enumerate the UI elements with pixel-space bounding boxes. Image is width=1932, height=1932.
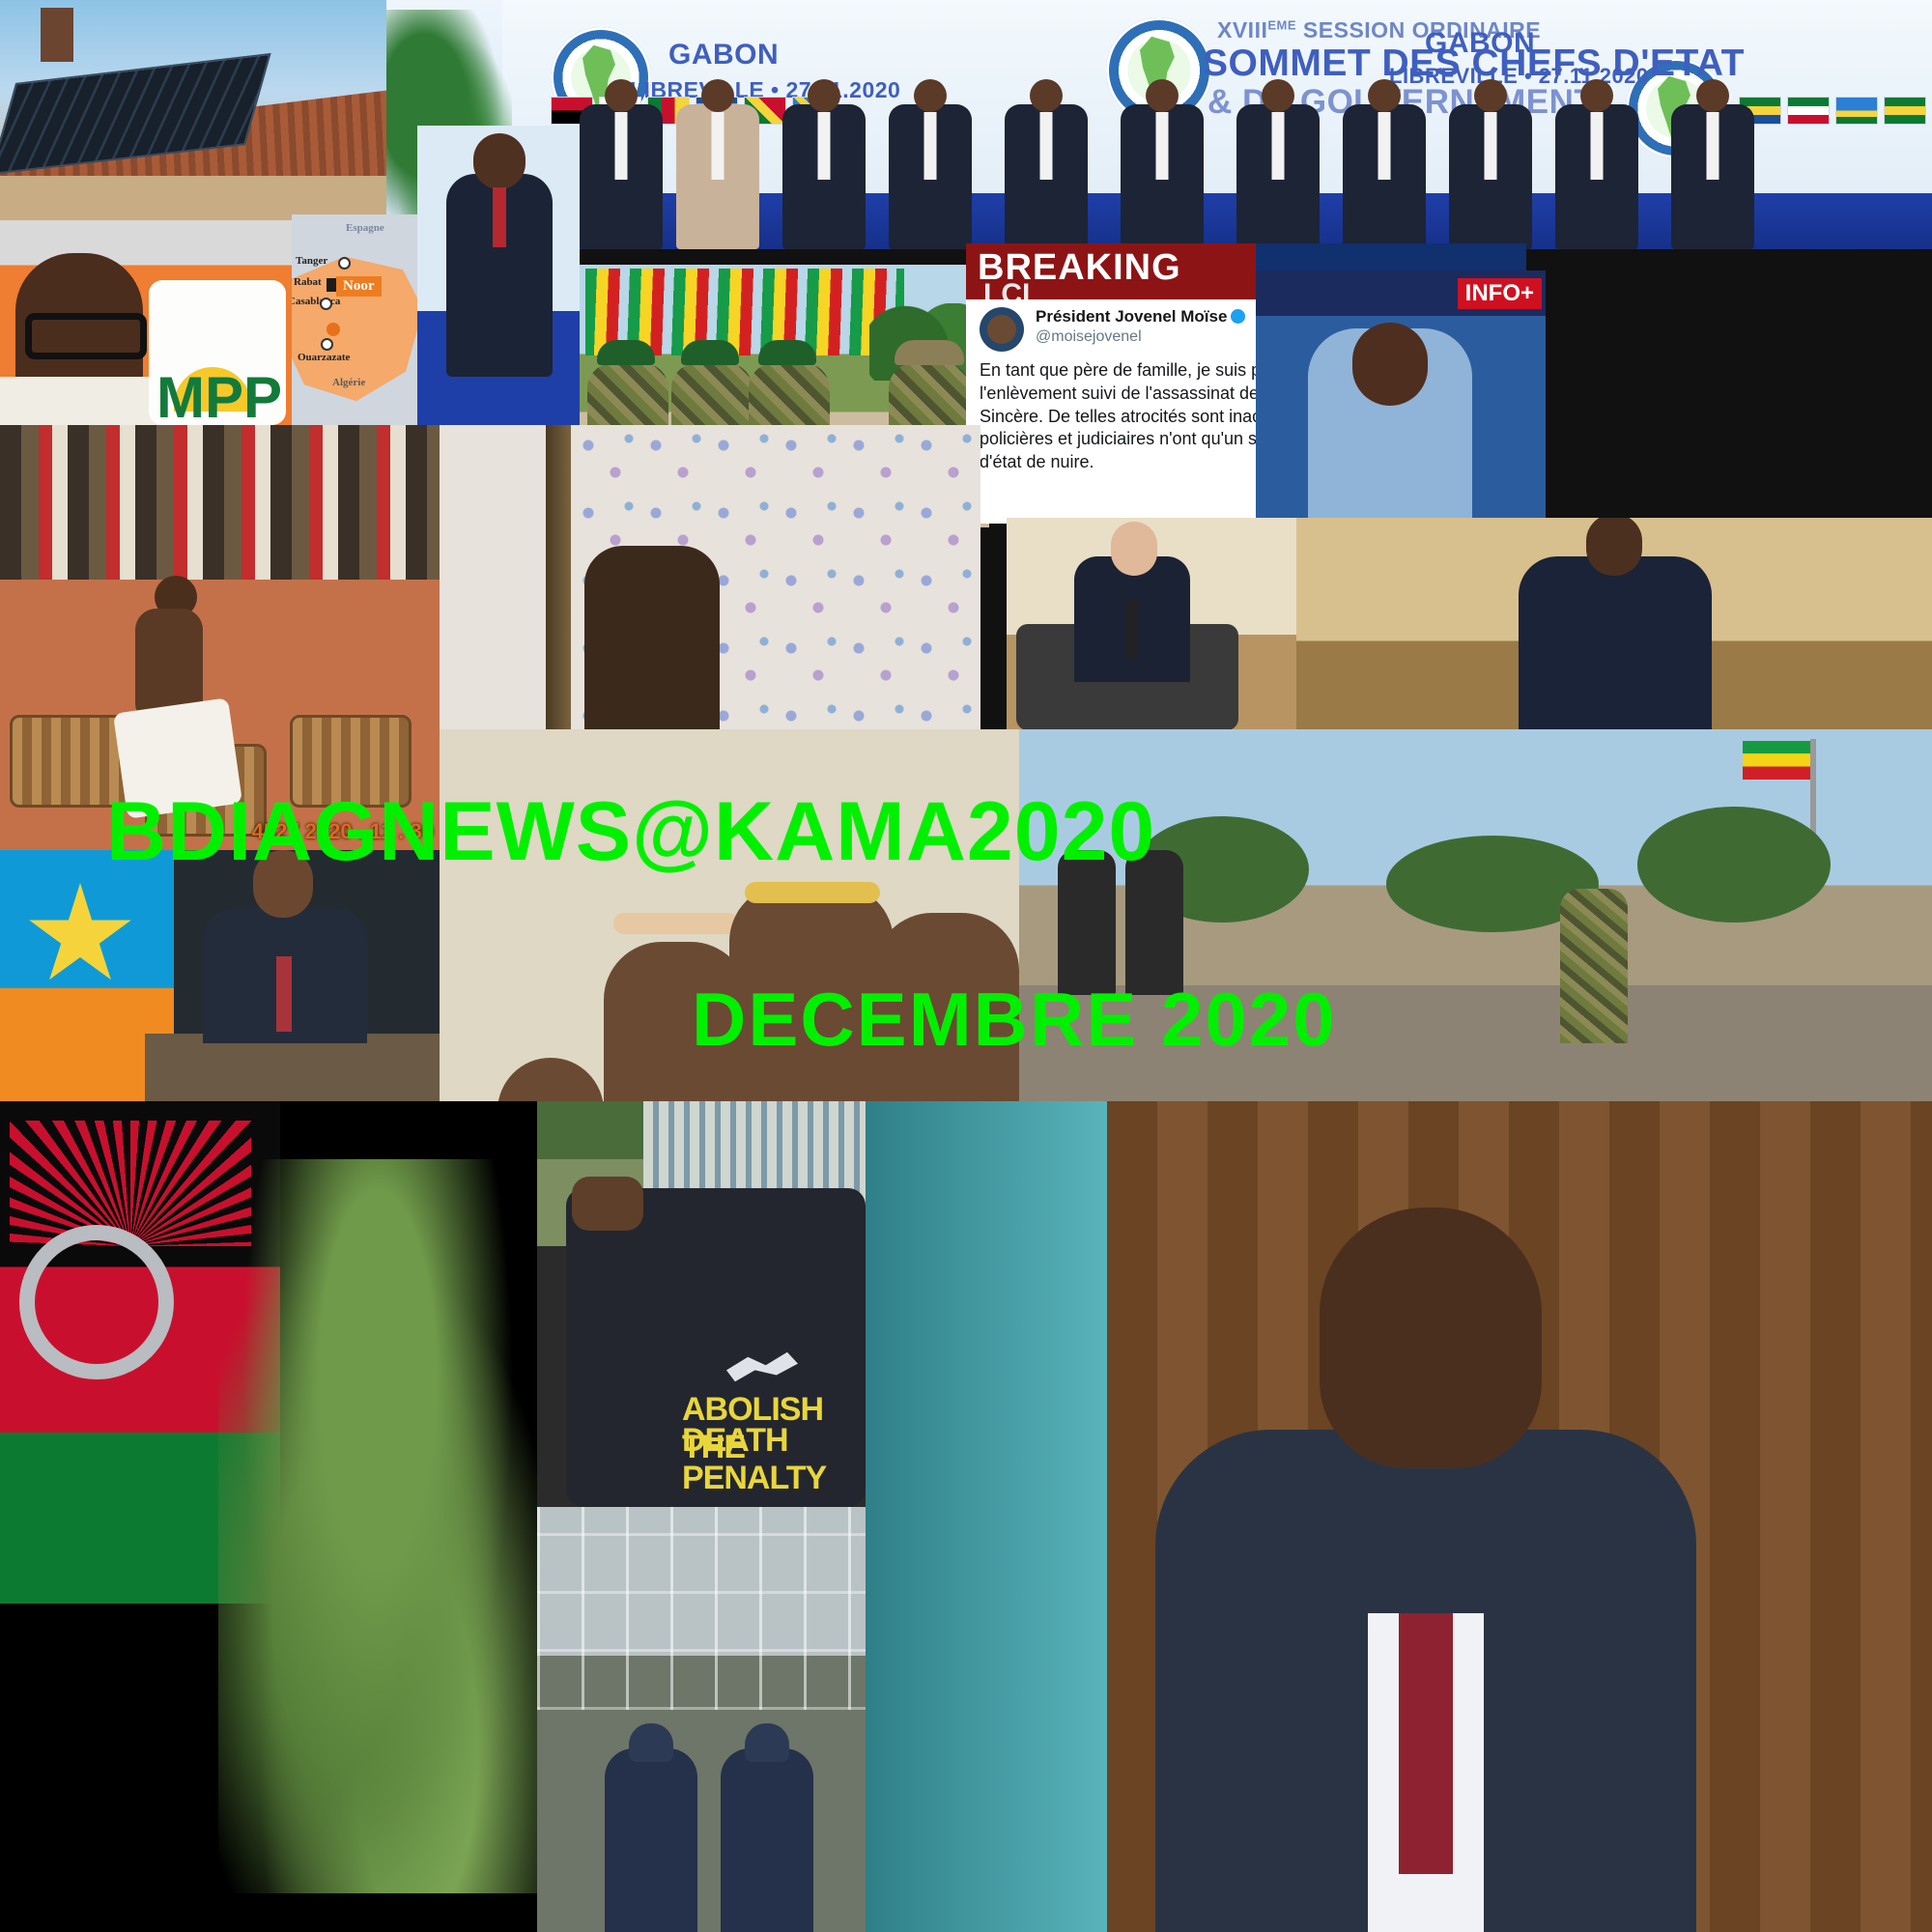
tile-malawi-cannabis [0,1101,537,1932]
tile-abolish-death-penalty-shirt: ABOLISH THE DEATH PENALTY [537,1101,866,1507]
necktie [1399,1613,1453,1874]
map-label-casablanca: Casablanca [292,296,340,307]
tile-burkina-president-mpp: MPP [0,220,292,425]
flag-row-right [1739,97,1932,125]
session-roman: XVIII [1217,17,1267,43]
chimney [41,8,73,62]
headband [613,913,739,934]
tile-ceeac-summit: GABON LIBREVILLE • 27.11.2020 XVIIIEME S… [386,0,1932,249]
tree [1637,807,1831,923]
headband [745,882,880,903]
verified-badge-icon [1231,309,1245,324]
hand [572,1177,643,1231]
shirt-text-line2: DEATH PENALTY [682,1422,866,1497]
photo-collage: GABON LIBREVILLE • 27.11.2020 XVIIIEME S… [0,0,1932,1932]
bush-hat [895,340,964,365]
white-tunic [0,377,164,425]
delegate-figure [1121,104,1204,249]
head [1111,522,1157,576]
tile-morocco-noor-map: Espagne Tanger Rabat Casablanca Noor Oua… [292,214,417,425]
mpp-initials: MPP [156,364,282,425]
delegate-figure [1449,104,1532,249]
worker-figure [721,1748,813,1932]
watermark-brand: BDIAGNEWS@KAMA2020 [106,784,1155,880]
necktie [1126,601,1138,659]
summit-country-right: GABON [1425,27,1535,60]
map-label-espagne: Espagne [346,222,384,234]
map-label-noor: Noor [336,276,382,297]
tile-solar-panel-roof [0,0,386,220]
delegate-figure [580,104,663,249]
green-beret [681,340,739,365]
flag-sao-tome [1884,97,1926,125]
map-dot-casablanca [320,298,332,310]
head [1320,1207,1542,1468]
woman-figure [584,546,720,729]
summit-country-left: GABON [668,39,779,71]
tile-greenhouse-workers [537,1507,866,1932]
map-label-algerie: Algérie [332,377,365,388]
info-plus-badge: INFO+ [1458,278,1542,309]
eyeglasses [25,313,147,359]
tile-official-seated [1296,518,1932,730]
desk [145,1034,440,1101]
delegate-figure [1005,104,1088,249]
watermark-date: DECEMBRE 2020 [692,976,1337,1064]
teal-curtain [866,1101,1107,1932]
greenhouse-frame [537,1507,866,1710]
tweet-author-name: Président Jovenel Moïse [1036,307,1245,327]
flag-guinee-equatoriale [1787,97,1830,125]
tile-botswana-president [866,1101,1932,1932]
tile-woman-laundry [440,425,980,729]
dancer [116,570,241,811]
green-beret [597,340,655,365]
map-label-tanger: Tanger [296,255,327,267]
tile-macron [1007,518,1296,730]
ethiopia-star-icon [27,883,133,989]
sunrise-rays-icon [10,1121,251,1246]
journalist-figure [1308,328,1472,522]
flag-rwanda [1835,97,1878,125]
head [1586,518,1642,576]
crowd-background [0,425,440,580]
cannabis-plant [218,1159,537,1893]
wooden-pole [546,425,571,729]
map-dot-tanger [338,257,351,270]
author-text: Président Jovenel Moïse [1036,307,1227,326]
map-label-ouarzazate: Ouarzazate [298,352,350,363]
worker-figure [605,1748,697,1932]
delegate-figure [1671,104,1754,249]
map-noor-site-dot [327,323,340,336]
delegate-figure [1555,104,1638,249]
delegate-figure [889,104,972,249]
delegate-figure [1236,104,1320,249]
soldier-figure [1560,889,1628,1043]
delegate-figure [782,104,866,249]
tile-info-plus-journalist: INFO+ [1256,270,1546,522]
handcuff-icon [19,1225,174,1379]
standing-tie [493,187,506,247]
map-dot-ouarzazate [321,338,333,351]
session-sup: EME [1267,17,1296,32]
avatar [980,307,1024,352]
suit [1519,556,1712,730]
tile-abiy-ahmed [0,850,440,1101]
map-label-rabat: Rabat [294,276,322,288]
necktie [276,956,292,1032]
delegate-figure [1343,104,1426,249]
tweet-handle: @moisejovenel [1036,328,1142,346]
standing-head [473,133,526,189]
tile-president-standing [417,126,580,425]
ethiopia-flag-icon [1743,741,1810,780]
delegate-figure [676,104,759,249]
green-beret [758,340,816,365]
